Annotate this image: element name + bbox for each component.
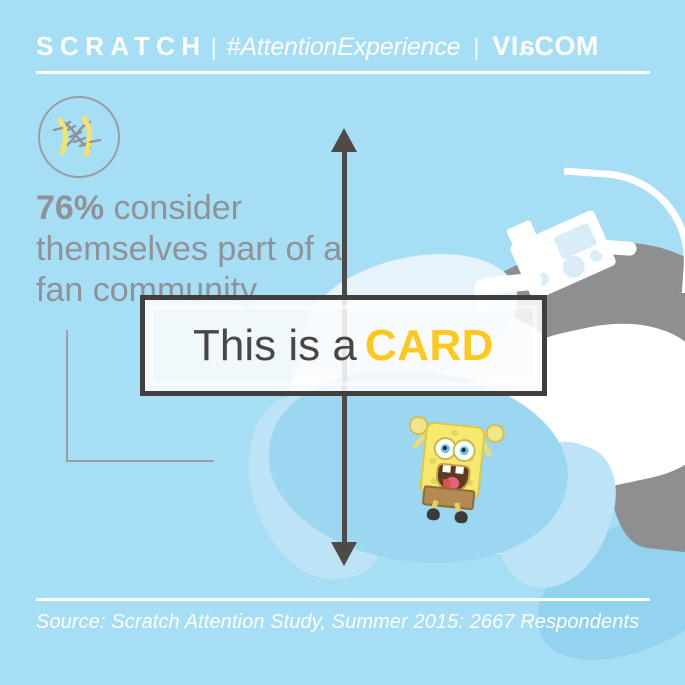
brand-separator-2: | (473, 34, 479, 61)
scratch-logo: SCRATCH (36, 31, 207, 62)
spongebob-print (399, 409, 507, 523)
viacom-flipped-a: a (519, 31, 535, 62)
viacom-logo: VIaCOM (492, 31, 599, 62)
arrow-down-head-icon (331, 542, 357, 566)
infographic-card: SCRATCH | #AttentionExperience | VIaCOM (0, 0, 685, 685)
brand-lockup: SCRATCH | #AttentionExperience | VIaCOM (36, 31, 599, 62)
viacom-suffix: COM (534, 31, 599, 61)
card-overlay[interactable]: This is aCARD (140, 295, 547, 396)
footer-divider (36, 598, 650, 601)
source-note: Source: Scratch Attention Study, Summer … (36, 611, 639, 634)
card-text-emphasis: CARD (365, 321, 494, 370)
dna-helix-icon (38, 96, 120, 178)
card-text-prefix: This is a (193, 321, 357, 370)
header: SCRATCH | #AttentionExperience | VIaCOM (0, 0, 685, 80)
card-text: This is aCARD (193, 321, 494, 371)
header-divider (36, 71, 650, 74)
statistic-value: 76% (36, 189, 104, 227)
statistic-text: 76% consider themselves part of a fan co… (36, 188, 356, 311)
brand-separator: | (211, 34, 217, 61)
viacom-prefix: VI (492, 31, 519, 61)
campaign-hashtag: #AttentionExperience (227, 33, 461, 62)
